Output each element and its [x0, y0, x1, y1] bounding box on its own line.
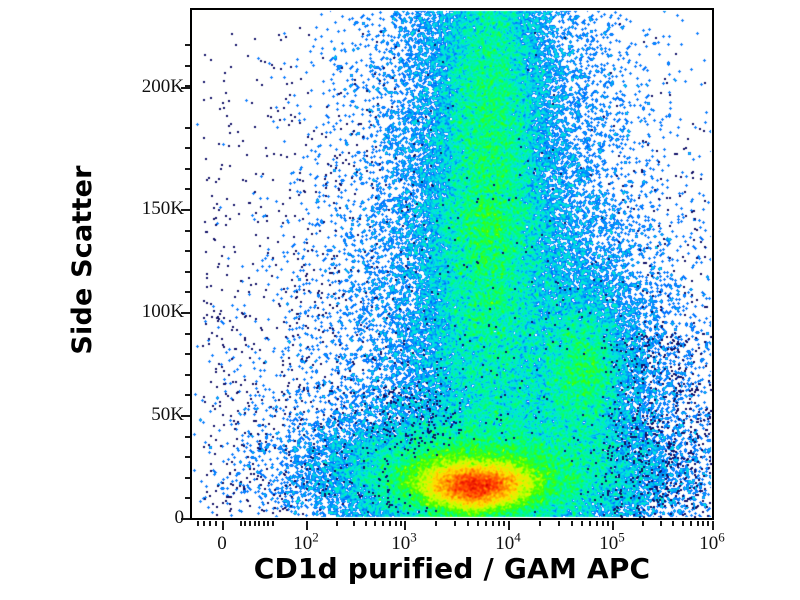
x-tick-exponent: 5 [618, 530, 625, 545]
x-minor-tick [389, 521, 391, 526]
x-minor-tick [254, 521, 256, 526]
x-minor-tick [197, 521, 199, 526]
x-minor-tick [263, 521, 265, 526]
y-tick-label: 200K [112, 76, 184, 98]
x-tick-base: 10 [699, 533, 718, 554]
y-tick-label: 50K [112, 404, 184, 426]
x-minor-tick [607, 521, 609, 526]
x-minor-tick [503, 521, 505, 526]
x-minor-tick [660, 521, 662, 526]
x-tick-base: 10 [391, 533, 410, 554]
x-minor-tick [672, 521, 674, 526]
x-major-tick [222, 521, 224, 530]
flow-cytometry-plot: 200K150K100K50K0 0102103104105106 Side S… [0, 0, 800, 600]
x-minor-tick [267, 521, 269, 526]
x-minor-tick [596, 521, 598, 526]
x-major-tick [612, 521, 614, 530]
x-minor-tick [272, 521, 274, 526]
x-minor-tick [454, 521, 456, 526]
x-minor-tick [498, 521, 500, 526]
x-minor-tick [244, 521, 246, 526]
x-tick-base: 10 [293, 533, 312, 554]
x-minor-tick [485, 521, 487, 526]
x-major-tick [306, 521, 308, 530]
x-minor-tick [690, 521, 692, 526]
x-minor-tick [707, 521, 709, 526]
x-major-tick [404, 521, 406, 530]
x-minor-tick [467, 521, 469, 526]
scatter-density-canvas [192, 10, 712, 518]
x-tick-base: 10 [599, 533, 618, 554]
x-minor-tick [682, 521, 684, 526]
x-minor-tick [365, 521, 367, 526]
x-minor-tick [581, 521, 583, 526]
y-tick-label: 0 [112, 507, 184, 529]
x-minor-tick [353, 521, 355, 526]
x-minor-tick [209, 521, 211, 526]
x-minor-tick [215, 521, 217, 526]
x-minor-tick [336, 521, 338, 526]
y-axis-tick-labels: 200K150K100K50K0 [100, 0, 184, 600]
x-minor-tick [642, 521, 644, 526]
x-minor-tick [258, 521, 260, 526]
x-axis-title: CD1d purified / GAM APC [190, 552, 714, 585]
y-axis-title: Side Scatter [62, 0, 102, 520]
x-minor-tick [382, 521, 384, 526]
x-minor-tick [240, 521, 242, 526]
x-tick-exponent: 4 [514, 530, 521, 545]
x-minor-tick [539, 521, 541, 526]
x-minor-tick [492, 521, 494, 526]
y-tick-label: 150K [112, 198, 184, 220]
x-minor-tick [702, 521, 704, 526]
x-minor-tick [589, 521, 591, 526]
x-tick-exponent: 6 [718, 530, 725, 545]
x-minor-tick [697, 521, 699, 526]
x-tick-exponent: 2 [312, 530, 319, 545]
x-minor-tick [477, 521, 479, 526]
x-minor-tick [435, 521, 437, 526]
x-minor-tick [558, 521, 560, 526]
x-minor-tick [400, 521, 402, 526]
x-minor-tick [203, 521, 205, 526]
x-minor-tick [571, 521, 573, 526]
x-tick-base: 10 [495, 533, 514, 554]
x-major-tick [712, 521, 714, 530]
x-tick-exponent: 3 [410, 530, 417, 545]
plot-frame [190, 8, 714, 520]
x-minor-tick [249, 521, 251, 526]
y-tick-label: 100K [112, 301, 184, 323]
x-minor-tick [602, 521, 604, 526]
x-major-tick [508, 521, 510, 530]
x-minor-tick [395, 521, 397, 526]
x-minor-tick [374, 521, 376, 526]
